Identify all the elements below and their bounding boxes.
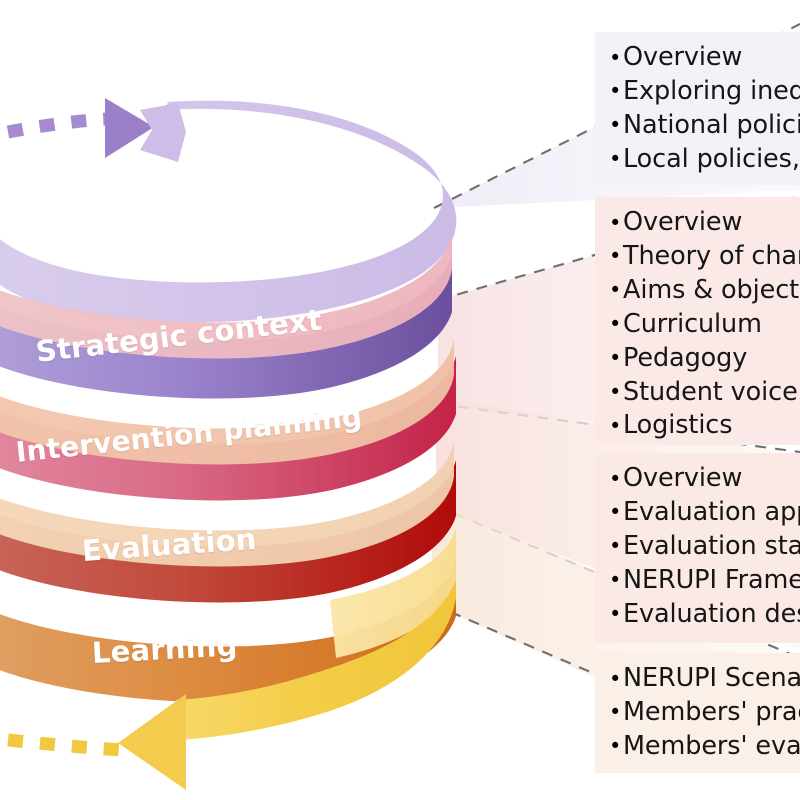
bullet-icon: •: [609, 463, 623, 496]
bullet-icon: •: [609, 143, 623, 176]
callout-strategic-context: •Overview •Exploring inequa •National po…: [595, 32, 800, 185]
list-item: •NERUPI Scenari: [609, 662, 800, 696]
bullet-icon: •: [609, 598, 623, 631]
list-item: •Student voice: [609, 376, 800, 410]
list-item: •National policies: [609, 109, 800, 143]
bullet-icon: •: [609, 240, 623, 273]
bullet-icon: •: [609, 496, 623, 529]
callout-list-learning: •NERUPI Scenari •Members' practi •Member…: [609, 662, 800, 764]
list-item: •Pedagogy: [609, 342, 800, 376]
bullet-icon: •: [609, 376, 623, 409]
list-item: •Overview: [609, 462, 800, 496]
callout-boxes: •Overview •Exploring inequa •National po…: [0, 0, 800, 800]
callout-list-strategic-context: •Overview •Exploring inequa •National po…: [609, 41, 800, 177]
list-item: •Overview: [609, 41, 800, 75]
list-item: •Theory of chang: [609, 240, 800, 274]
bullet-icon: •: [609, 274, 623, 307]
bullet-icon: •: [609, 109, 623, 142]
callout-evaluation: •Overview •Evaluation appro •Evaluation …: [595, 453, 800, 643]
list-item: •Evaluation desig: [609, 598, 800, 632]
diagram-canvas: Strategic context Intervention planning …: [0, 0, 800, 800]
bullet-icon: •: [609, 730, 623, 763]
list-item: •Exploring inequa: [609, 75, 800, 109]
list-item: •Members' practi: [609, 696, 800, 730]
list-item: •Logistics: [609, 409, 800, 443]
bullet-icon: •: [609, 564, 623, 597]
list-item: •Members' evalua: [609, 730, 800, 764]
list-item: •Aims & objective: [609, 274, 800, 308]
bullet-icon: •: [609, 530, 623, 563]
callout-learning: •NERUPI Scenari •Members' practi •Member…: [595, 653, 800, 773]
list-item: •Curriculum: [609, 308, 800, 342]
list-item: •Local policies, ris: [609, 143, 800, 177]
bullet-icon: •: [609, 696, 623, 729]
list-item: •NERUPI Framew: [609, 564, 800, 598]
callout-list-intervention-planning: •Overview •Theory of chang •Aims & objec…: [609, 206, 800, 443]
bullet-icon: •: [609, 75, 623, 108]
bullet-icon: •: [609, 207, 623, 240]
list-item: •Overview: [609, 206, 800, 240]
bullet-icon: •: [609, 342, 623, 375]
bullet-icon: •: [609, 410, 623, 443]
callout-list-evaluation: •Overview •Evaluation appro •Evaluation …: [609, 462, 800, 632]
bullet-icon: •: [609, 42, 623, 75]
bullet-icon: •: [609, 308, 623, 341]
bullet-icon: •: [609, 663, 623, 696]
callout-intervention-planning: •Overview •Theory of chang •Aims & objec…: [595, 197, 800, 445]
list-item: •Evaluation stages: [609, 530, 800, 564]
list-item: •Evaluation appro: [609, 496, 800, 530]
